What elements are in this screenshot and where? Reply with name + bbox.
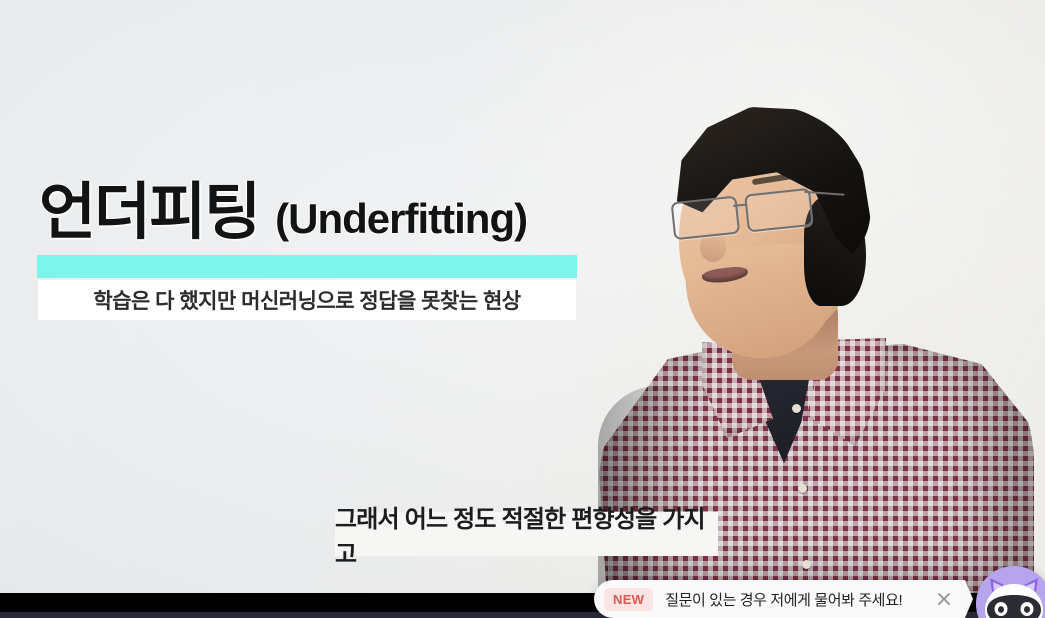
chat-notification-message: 질문이 있는 경우 저에게 물어봐 주세요! <box>665 589 933 610</box>
slide-title-block: 언더피팅 (Underfitting) 학습은 다 했지만 머신러닝으로 정답을… <box>37 182 577 278</box>
title-highlight-bar <box>37 255 577 278</box>
glasses-lens-right <box>744 188 814 233</box>
chat-notification-toast[interactable]: NEW 질문이 있는 경우 저에게 물어봐 주세요! <box>594 580 965 618</box>
video-caption-box: 그래서 어느 정도 적절한 편향성을 가지고 <box>335 512 718 556</box>
title-korean: 언더피팅 <box>39 182 259 244</box>
shirt-button <box>802 560 811 569</box>
title-subtitle-box: 학습은 다 했지만 머신러닝으로 정답을 못찾는 현상 <box>38 280 576 320</box>
video-player-stage: 언더피팅 (Underfitting) 학습은 다 했지만 머신러닝으로 정답을… <box>0 0 1045 618</box>
title-english: (Underfitting) <box>275 198 527 240</box>
title-row: 언더피팅 (Underfitting) <box>37 182 577 278</box>
video-caption-text: 그래서 어느 정도 적절한 편향성을 가지고 <box>335 499 718 569</box>
shirt-button <box>798 484 807 493</box>
title-subtitle-text: 학습은 다 했지만 머신러닝으로 정답을 못찾는 현상 <box>93 285 520 315</box>
shirt-button <box>792 404 801 413</box>
chat-new-badge: NEW <box>604 588 653 611</box>
close-icon[interactable] <box>933 588 955 610</box>
glasses-lens-left <box>671 196 741 241</box>
